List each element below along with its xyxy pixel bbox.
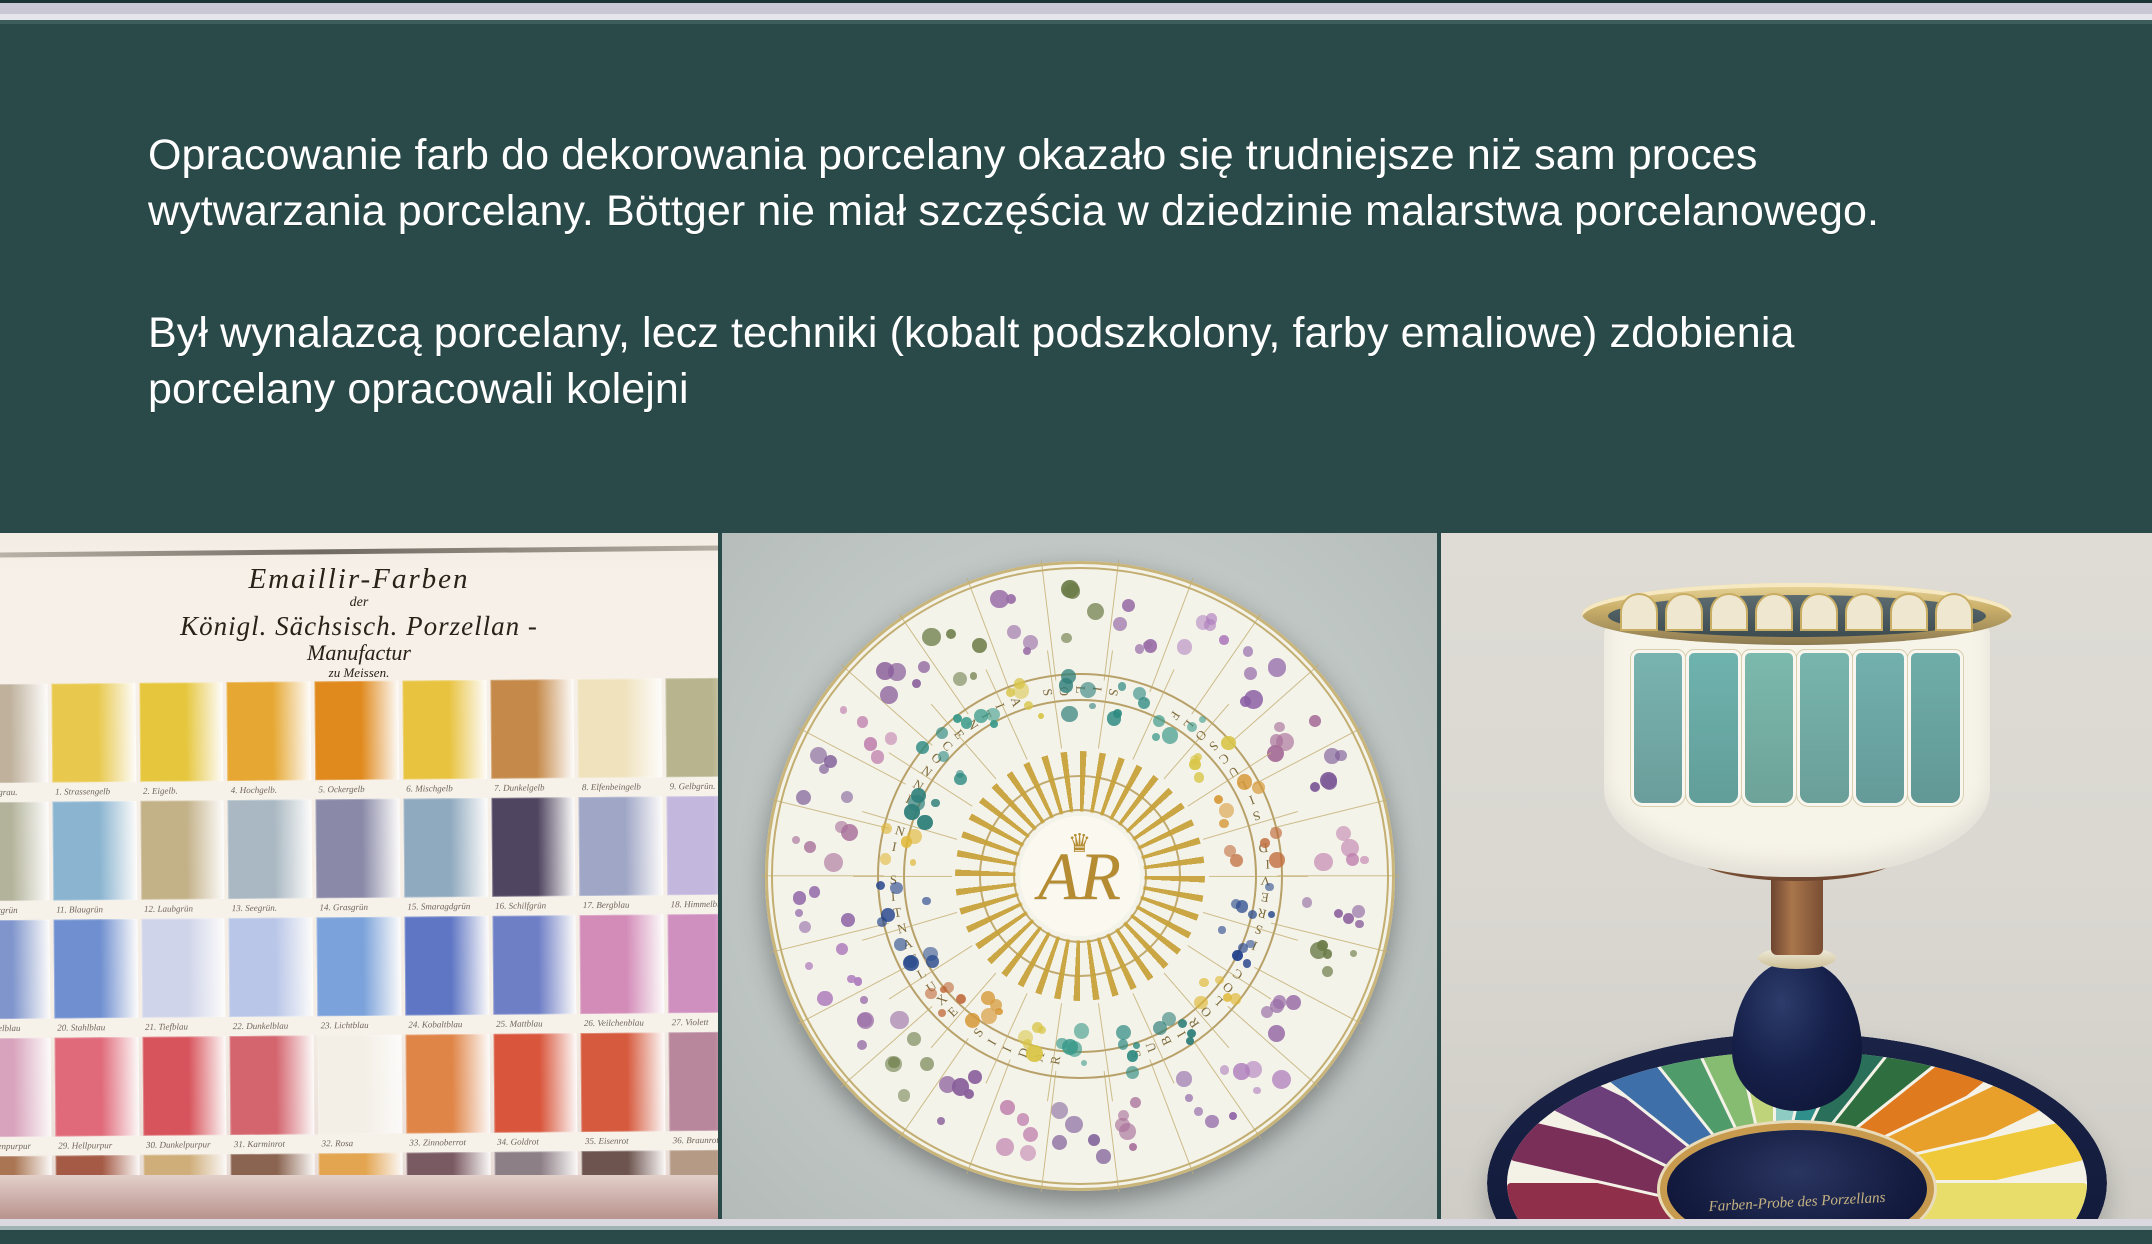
sector-divider <box>1209 875 1308 876</box>
floret-petal <box>912 679 921 688</box>
colour-swatch <box>227 681 312 781</box>
pierced-arch <box>1667 595 1701 629</box>
floret-petal <box>1269 852 1285 868</box>
colour-swatch <box>490 679 575 779</box>
floret-petal <box>1118 1039 1129 1050</box>
swatch-label: 5. Ockergelb <box>315 780 399 800</box>
swatch-label: 7. Dunkelgelb <box>491 778 575 798</box>
paragraph-2: Był wynalazcą porcelany, lecz techniki (… <box>148 306 1908 418</box>
colour-swatch <box>316 799 401 899</box>
colour-swatch <box>578 678 663 778</box>
swatch-label: 35. Eisenrot <box>582 1131 666 1151</box>
floret-petal <box>965 1013 981 1029</box>
goblet-colour-panel <box>1745 653 1794 803</box>
chart-sheet-bottom-edge <box>0 1175 718 1219</box>
swatch-label: 26. Veilchenblau <box>581 1013 665 1033</box>
floret-petal <box>1056 1038 1068 1050</box>
floret-petal <box>1355 920 1364 929</box>
floret-petal <box>1220 1065 1230 1075</box>
floret-petal <box>903 955 919 971</box>
floret-petal <box>854 977 862 985</box>
floret-petal <box>1122 599 1135 612</box>
floret-petal <box>970 672 978 680</box>
floret-petal <box>1116 1025 1132 1041</box>
floret-petal <box>1006 688 1015 697</box>
floret-petal <box>835 821 848 834</box>
top-edge-divider <box>0 20 2152 24</box>
floret-petal <box>1119 1123 1136 1140</box>
swatch-row <box>0 678 718 784</box>
goblet-bowl-body <box>1604 619 1990 877</box>
floret-petal <box>1067 1041 1083 1057</box>
swatch-label: 31. Karminrot <box>231 1134 315 1154</box>
floret-petal <box>841 913 855 927</box>
goblet-colour-panel <box>1911 653 1960 803</box>
swatch-label: 8. Elfenbeingelb <box>579 777 663 797</box>
colour-swatch <box>139 682 224 782</box>
swatch-label: 33. Zinnoberrot <box>406 1133 490 1153</box>
colour-swatch <box>51 683 136 783</box>
swatch-row <box>0 1032 718 1138</box>
floret-petal <box>1052 1135 1067 1150</box>
floret-petal <box>1260 838 1269 847</box>
sector-divider <box>853 875 952 876</box>
floret-petal <box>1268 1025 1285 1042</box>
colour-swatch <box>666 678 718 778</box>
goblet-bowl <box>1582 573 2012 883</box>
floret-petal <box>964 1089 974 1099</box>
colour-swatch <box>318 1035 403 1135</box>
colour-swatch <box>0 802 49 902</box>
floret-petal <box>1138 697 1150 709</box>
floret-petal <box>1061 633 1071 643</box>
floret-petal <box>881 823 892 834</box>
floret-petal <box>796 790 811 805</box>
floret-petal <box>1322 966 1333 977</box>
colour-swatch <box>230 1035 315 1135</box>
floret-petal <box>1118 682 1127 691</box>
pierced-arch <box>1757 595 1791 629</box>
colour-swatch <box>579 796 664 896</box>
inscription-char: I <box>984 1035 1001 1048</box>
goblet-colour-panel <box>1856 653 1905 803</box>
floret-petal <box>857 1040 867 1050</box>
floret-petal <box>986 708 1000 722</box>
pierced-arch <box>1937 595 1971 629</box>
swatch-label: 2. Eigelb. <box>140 781 224 801</box>
swatch-row <box>0 796 718 902</box>
colour-swatch <box>405 1034 490 1134</box>
floret-petal <box>857 716 869 728</box>
colour-swatch <box>669 1032 718 1132</box>
pierced-arch <box>1802 595 1836 629</box>
colour-swatch <box>491 797 576 897</box>
floret-petal <box>1162 1012 1176 1026</box>
swatch-label: 29. Hellpurpur <box>55 1136 139 1156</box>
colour-swatch <box>142 1036 227 1136</box>
swatch-label: 1. Strassengelb <box>52 782 136 802</box>
floret-petal <box>1243 646 1254 657</box>
pierced-arch <box>1892 595 1926 629</box>
goblet-colour-panel <box>1800 653 1849 803</box>
floret-petal <box>937 1117 945 1125</box>
floret-petal <box>1261 1006 1273 1018</box>
colour-swatch <box>315 681 400 781</box>
floret-petal <box>1038 713 1044 719</box>
floret-petal <box>1252 781 1265 794</box>
floret-petal <box>1127 1050 1138 1061</box>
floret-petal <box>1129 1143 1137 1151</box>
floret-petal <box>1187 722 1197 732</box>
goblet-colour-panel <box>1689 653 1738 803</box>
colour-swatch-grid: 14. Aschgrau.1. Strassengelb2. Eigelb.4.… <box>0 678 718 1219</box>
floret-petal <box>926 955 939 968</box>
floret-petal <box>824 755 837 768</box>
swatch-row <box>0 914 718 1020</box>
inscription-char: I <box>890 839 898 856</box>
floret-petal <box>877 917 887 927</box>
floret-petal <box>1272 1070 1291 1089</box>
swatch-label: 13. Seegrün. <box>229 898 313 918</box>
floret-petal <box>939 1076 956 1093</box>
swatch-label: 10. Meergrün <box>0 901 49 921</box>
floret-petal <box>910 859 917 866</box>
floret-petal <box>809 886 820 897</box>
floret-petal <box>1113 617 1127 631</box>
colour-swatch <box>492 915 577 1015</box>
colour-swatch <box>229 917 314 1017</box>
floret-petal <box>1194 772 1204 782</box>
colour-swatch <box>0 1038 51 1138</box>
floret-petal <box>1273 995 1286 1008</box>
swatch-label: 15. Smaragdgrün <box>404 897 488 917</box>
floret-petal <box>918 661 930 673</box>
floret-petal <box>1089 703 1096 710</box>
slide-text-block: Opracowanie farb do dekorowania porcelan… <box>148 128 1908 418</box>
image-colour-sample-goblet-and-stand: Farben-Probe des Porzellans <box>1441 533 2152 1219</box>
image-strip: Emaillir-Farben der Königl. Sächsisch. P… <box>0 533 2152 1219</box>
floret-petal <box>1088 1134 1100 1146</box>
floret-petal <box>1219 803 1234 818</box>
inscription-char: I <box>1245 792 1256 809</box>
floret-petal <box>898 1089 910 1101</box>
swatch-label: 34. Goldrot <box>494 1132 578 1152</box>
swatch-label: 20. Stahlblau <box>54 1018 138 1038</box>
colour-swatch <box>141 918 226 1018</box>
presentation-slide: Opracowanie farb do dekorowania porcelan… <box>0 0 2152 1244</box>
colour-swatch <box>0 684 48 784</box>
floret-petal <box>1026 1045 1042 1061</box>
floret-petal <box>1038 1026 1046 1034</box>
swatch-label: 19. Mittelblau <box>0 1019 50 1039</box>
floret-petal <box>1176 1071 1191 1086</box>
colour-swatch <box>493 1033 578 1133</box>
floret-petal <box>804 841 816 853</box>
floret-petal <box>894 938 906 950</box>
floret-petal <box>1309 715 1321 727</box>
floret-petal <box>1244 690 1263 709</box>
floret-petal <box>824 853 843 872</box>
swatch-label: 32. Rosa <box>319 1134 403 1154</box>
floret-petal <box>901 836 912 847</box>
swatch-label: 14. Grasgrün <box>316 898 400 918</box>
floret-petal <box>880 853 891 864</box>
colour-swatch <box>140 800 225 900</box>
floret-petal <box>860 996 868 1004</box>
goblet-colour-panel <box>1634 653 1683 803</box>
floret-petal <box>1320 772 1337 789</box>
swatch-label: 24. Kobaltblau <box>405 1015 489 1035</box>
floret-petal <box>864 737 877 750</box>
colour-swatch <box>54 1037 139 1137</box>
floret-petal <box>1218 926 1225 933</box>
floret-petal <box>871 750 884 763</box>
floret-petal <box>1243 959 1251 967</box>
colour-swatch <box>402 680 487 780</box>
plate-centre-medallion: ♛ AR <box>1020 816 1140 936</box>
floret-petal <box>1336 826 1351 841</box>
top-edge-light-strip <box>0 3 2152 14</box>
floret-petal <box>1177 639 1193 655</box>
floret-petal <box>1152 733 1160 741</box>
floret-petal <box>793 891 807 905</box>
swatch-label: 12. Laubgrün <box>141 899 225 919</box>
colour-swatch <box>52 801 137 901</box>
floret-petal <box>880 686 898 704</box>
floret-petal <box>1023 647 1031 655</box>
floret-petal <box>840 706 847 713</box>
floret-petal <box>1080 682 1096 698</box>
floret-petal <box>956 994 966 1004</box>
floret-petal <box>1302 897 1312 907</box>
paragraph-1: Opracowanie farb do dekorowania porcelan… <box>148 128 1908 240</box>
floret-petal <box>916 741 929 754</box>
pierced-arch <box>1712 595 1746 629</box>
floret-petal <box>1334 909 1343 918</box>
floret-petal <box>1238 943 1248 953</box>
floret-petal <box>1268 911 1275 918</box>
colour-swatch <box>404 916 489 1016</box>
swatch-label: 17. Bergblau <box>580 895 664 915</box>
floret-petal <box>1074 1023 1090 1039</box>
floret-petal <box>841 791 853 803</box>
image-meissen-enamel-colour-chart: Emaillir-Farben der Königl. Sächsisch. P… <box>0 533 718 1219</box>
swatch-label: 36. Braunrot <box>670 1131 718 1151</box>
floret-petal <box>876 881 886 891</box>
floret-petal <box>1248 910 1257 919</box>
colour-swatch <box>667 796 718 896</box>
floret-petal <box>920 1057 934 1071</box>
floret-petal <box>1186 1037 1194 1045</box>
floret-petal <box>1087 603 1104 620</box>
swatch-label: 6. Mischgelb <box>403 779 487 799</box>
floret-petal <box>1023 1127 1038 1142</box>
floret-petal <box>1233 1063 1249 1079</box>
colour-swatch <box>53 919 138 1019</box>
floret-petal <box>946 629 957 640</box>
swatch-label: 23. Lichtblau <box>317 1016 401 1036</box>
colour-swatch <box>580 914 665 1014</box>
floret-petal <box>1199 978 1208 987</box>
floret-petal <box>1000 1100 1015 1115</box>
colour-swatch <box>228 799 313 899</box>
swatch-label: 30. Dunkelpurpur <box>143 1135 227 1155</box>
swatch-label: 22. Dunkelblau <box>230 1016 314 1036</box>
swatch-label: 28. Rosenpurpur <box>0 1137 51 1157</box>
floret-petal <box>1194 1107 1202 1115</box>
swatch-label: 18. Himmelblau <box>668 895 718 915</box>
colour-swatch <box>403 798 488 898</box>
floret-petal <box>1224 845 1236 857</box>
floret-petal <box>1178 1019 1187 1028</box>
swatch-label: 21. Tiefblau <box>142 1017 226 1037</box>
floret-petal <box>1144 639 1157 652</box>
floret-petal <box>1244 667 1257 680</box>
pierced-arch <box>1622 595 1656 629</box>
floret-petal <box>795 909 803 917</box>
floret-petal <box>885 732 897 744</box>
floret-petal <box>938 751 948 761</box>
colour-swatch <box>0 920 50 1020</box>
swatch-label: 14. Aschgrau. <box>0 783 48 803</box>
bottom-light-strip-1 <box>0 1219 2152 1226</box>
floret-petal <box>1268 658 1286 676</box>
floret-petal <box>1018 1030 1033 1045</box>
swatch-label: 16. Schilfgrün <box>492 896 576 916</box>
floret-petal <box>961 717 972 728</box>
floret-petal <box>1007 625 1021 639</box>
swatch-label: 4. Hochgelb. <box>228 780 312 800</box>
pierced-arch <box>1847 595 1881 629</box>
colour-swatch <box>317 917 402 1017</box>
floret-petal <box>1230 993 1242 1005</box>
floret-petal <box>1006 594 1016 604</box>
floret-petal <box>1096 1149 1110 1163</box>
floret-petal <box>805 962 814 971</box>
colour-swatch <box>668 914 718 1014</box>
floret-petal <box>1231 899 1241 909</box>
stand-gilt-inscription: Farben-Probe des Porzellans <box>1708 1190 1886 1216</box>
floret-petal <box>888 663 905 680</box>
floret-petal <box>1196 615 1211 630</box>
swatch-label: 25. Mattblau <box>493 1014 577 1034</box>
floret-petal <box>996 1138 1014 1156</box>
bottom-dark-band <box>0 1230 2152 1244</box>
swatch-label: 11. Blaugrün <box>53 900 137 920</box>
floret-petal <box>940 986 947 993</box>
floret-petal <box>1162 727 1178 743</box>
floret-petal <box>953 672 967 686</box>
inscription-char: R <box>1047 1054 1064 1066</box>
swatch-label: 27. Violett <box>669 1013 718 1033</box>
floret-petal <box>938 1009 946 1017</box>
swatch-label: 9. Gelbgrün. <box>667 777 718 797</box>
crown-icon: ♛ <box>1068 830 1091 856</box>
floret-petal <box>917 815 933 831</box>
image-meissen-colour-sample-plate: RADIIS EXULTANTIS IN INNOCENTIA SOLIS · … <box>722 533 1437 1219</box>
goblet-pierced-arches <box>1622 595 1972 639</box>
floret-petal <box>1017 1113 1030 1126</box>
colour-swatch <box>581 1032 666 1132</box>
floret-petal <box>1185 1094 1193 1102</box>
porcelain-plate: RADIIS EXULTANTIS IN INNOCENTIA SOLIS · … <box>765 561 1395 1191</box>
